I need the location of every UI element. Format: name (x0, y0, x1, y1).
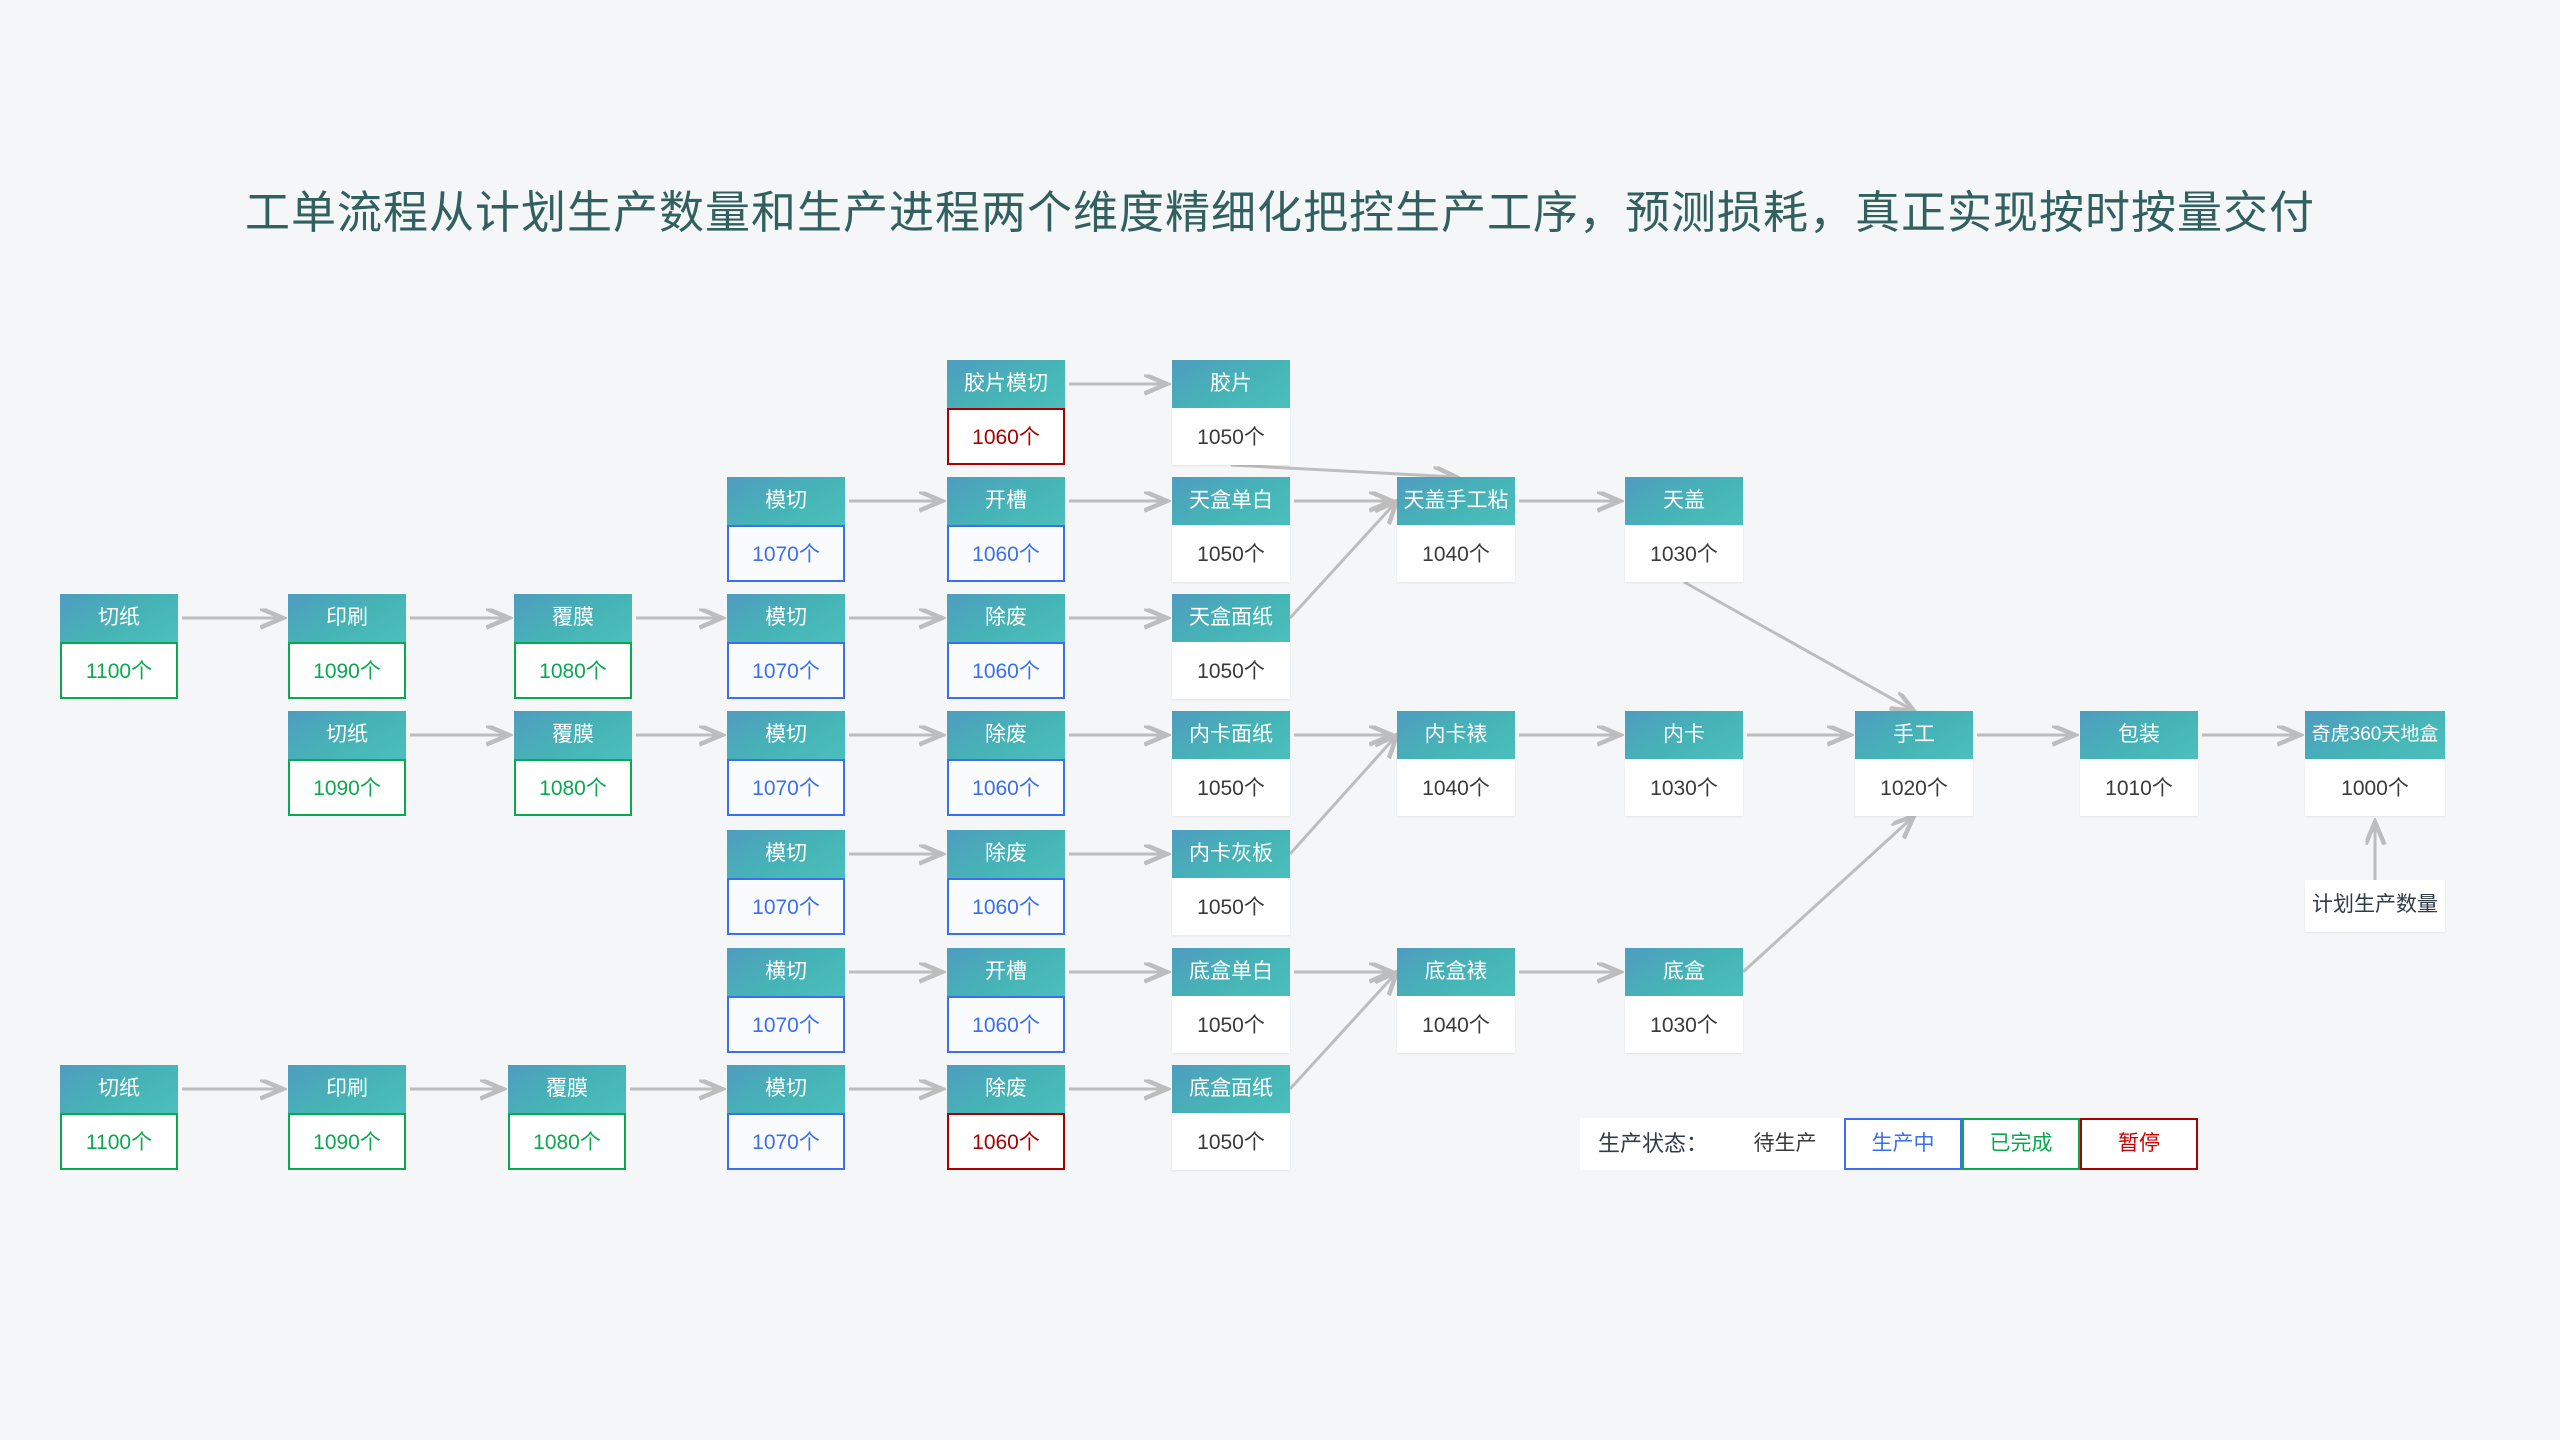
node-title: 内卡裱 (1397, 711, 1515, 759)
node-quantity: 1070个 (727, 878, 845, 935)
node-quantity: 1070个 (727, 1113, 845, 1170)
process-node-n7[interactable]: 天盖1030个 (1625, 477, 1743, 582)
process-node-n26[interactable]: 内卡灰板1050个 (1172, 830, 1290, 935)
connector (1290, 735, 1397, 854)
process-node-n28[interactable]: 开槽1060个 (947, 948, 1065, 1053)
node-title: 底盒 (1625, 948, 1743, 996)
node-quantity: 1060个 (947, 996, 1065, 1053)
legend-chip-paused[interactable]: 暂停 (2080, 1118, 2198, 1170)
node-quantity: 1070个 (727, 525, 845, 582)
node-quantity: 1060个 (947, 759, 1065, 816)
page-title: 工单流程从计划生产数量和生产进程两个维度精细化把控生产工序，预测损耗，真正实现按… (0, 176, 2560, 241)
process-node-n29[interactable]: 底盒单白1050个 (1172, 948, 1290, 1053)
process-node-n33[interactable]: 印刷1090个 (288, 1065, 406, 1170)
process-node-n13[interactable]: 天盒面纸1050个 (1172, 594, 1290, 699)
node-title: 模切 (727, 830, 845, 878)
process-node-n2[interactable]: 胶片1050个 (1172, 360, 1290, 465)
node-quantity: 1030个 (1625, 525, 1743, 582)
legend-title: 生产状态： (1580, 1118, 1726, 1170)
node-quantity: 1060个 (947, 408, 1065, 465)
process-node-n25[interactable]: 除废1060个 (947, 830, 1065, 935)
process-node-n23[interactable]: 奇虎360天地盒1000个 (2305, 711, 2445, 816)
status-legend: 生产状态： 待生产生产中已完成暂停 (1580, 1118, 2198, 1170)
node-title: 天盒单白 (1172, 477, 1290, 525)
node-title: 切纸 (60, 1065, 178, 1113)
process-node-n20[interactable]: 内卡1030个 (1625, 711, 1743, 816)
process-node-n3[interactable]: 模切1070个 (727, 477, 845, 582)
node-quantity: 1060个 (947, 642, 1065, 699)
node-quantity: 1000个 (2305, 759, 2445, 816)
node-title: 横切 (727, 948, 845, 996)
node-quantity: 1060个 (947, 1113, 1065, 1170)
process-node-n5[interactable]: 天盒单白1050个 (1172, 477, 1290, 582)
node-title: 开槽 (947, 948, 1065, 996)
node-title: 内卡灰板 (1172, 830, 1290, 878)
node-quantity: 1050个 (1172, 878, 1290, 935)
node-quantity: 1080个 (514, 759, 632, 816)
node-quantity: 1100个 (60, 642, 178, 699)
process-node-n34[interactable]: 覆膜1080个 (508, 1065, 626, 1170)
node-title: 天盖 (1625, 477, 1743, 525)
node-quantity: 1030个 (1625, 996, 1743, 1053)
node-title: 模切 (727, 594, 845, 642)
node-title: 开槽 (947, 477, 1065, 525)
process-node-n15[interactable]: 覆膜1080个 (514, 711, 632, 816)
process-node-n9[interactable]: 印刷1090个 (288, 594, 406, 699)
process-node-n30[interactable]: 底盒裱1040个 (1397, 948, 1515, 1053)
node-title: 覆膜 (514, 711, 632, 759)
node-title: 手工 (1855, 711, 1973, 759)
node-title: 底盒面纸 (1172, 1065, 1290, 1113)
node-title: 模切 (727, 1065, 845, 1113)
node-title: 切纸 (60, 594, 178, 642)
node-title: 天盒面纸 (1172, 594, 1290, 642)
legend-chip-pending[interactable]: 待生产 (1726, 1118, 1844, 1170)
process-node-n21[interactable]: 手工1020个 (1855, 711, 1973, 816)
node-quantity: 1040个 (1397, 525, 1515, 582)
node-title: 内卡面纸 (1172, 711, 1290, 759)
node-quantity: 1070个 (727, 642, 845, 699)
node-title: 底盒单白 (1172, 948, 1290, 996)
connector (1290, 501, 1397, 618)
node-title: 印刷 (288, 1065, 406, 1113)
node-title: 模切 (727, 711, 845, 759)
process-node-n24[interactable]: 模切1070个 (727, 830, 845, 935)
node-title: 除废 (947, 1065, 1065, 1113)
node-quantity: 1100个 (60, 1113, 178, 1170)
node-quantity: 1070个 (727, 996, 845, 1053)
node-title: 奇虎360天地盒 (2305, 711, 2445, 759)
legend-chip-done[interactable]: 已完成 (1962, 1118, 2080, 1170)
node-title: 除废 (947, 594, 1065, 642)
node-quantity: 1070个 (727, 759, 845, 816)
process-node-n19[interactable]: 内卡裱1040个 (1397, 711, 1515, 816)
node-title: 覆膜 (508, 1065, 626, 1113)
node-title: 模切 (727, 477, 845, 525)
process-node-n11[interactable]: 模切1070个 (727, 594, 845, 699)
node-title: 印刷 (288, 594, 406, 642)
process-node-n18[interactable]: 内卡面纸1050个 (1172, 711, 1290, 816)
node-title: 覆膜 (514, 594, 632, 642)
process-node-n37[interactable]: 底盒面纸1050个 (1172, 1065, 1290, 1170)
legend-chip-running[interactable]: 生产中 (1844, 1118, 1962, 1170)
node-quantity: 1080个 (508, 1113, 626, 1170)
process-node-n31[interactable]: 底盒1030个 (1625, 948, 1743, 1053)
process-node-n22[interactable]: 包装1010个 (2080, 711, 2198, 816)
node-quantity: 1040个 (1397, 996, 1515, 1053)
node-quantity: 1060个 (947, 525, 1065, 582)
node-title: 胶片模切 (947, 360, 1065, 408)
connector (1231, 465, 1456, 477)
node-title: 底盒裱 (1397, 948, 1515, 996)
process-node-n32[interactable]: 切纸1100个 (60, 1065, 178, 1170)
node-quantity: 1090个 (288, 642, 406, 699)
process-node-n17[interactable]: 除废1060个 (947, 711, 1065, 816)
node-quantity: 1060个 (947, 878, 1065, 935)
process-node-n35[interactable]: 模切1070个 (727, 1065, 845, 1170)
node-title: 内卡 (1625, 711, 1743, 759)
node-quantity: 1080个 (514, 642, 632, 699)
node-quantity: 1050个 (1172, 996, 1290, 1053)
node-quantity: 1020个 (1855, 759, 1973, 816)
connector (1743, 816, 1914, 972)
node-title: 除废 (947, 830, 1065, 878)
process-node-n6[interactable]: 天盖手工粘1040个 (1397, 477, 1515, 582)
process-node-n10[interactable]: 覆膜1080个 (514, 594, 632, 699)
process-node-n16[interactable]: 模切1070个 (727, 711, 845, 816)
node-quantity: 1090个 (288, 759, 406, 816)
node-title: 切纸 (288, 711, 406, 759)
node-quantity: 1050个 (1172, 408, 1290, 465)
node-title: 天盖手工粘 (1397, 477, 1515, 525)
process-node-n27[interactable]: 横切1070个 (727, 948, 845, 1053)
node-quantity: 1040个 (1397, 759, 1515, 816)
diagram-canvas: 工单流程从计划生产数量和生产进程两个维度精细化把控生产工序，预测损耗，真正实现按… (0, 0, 2560, 1440)
node-title: 胶片 (1172, 360, 1290, 408)
node-title: 除废 (947, 711, 1065, 759)
connector (1684, 582, 1914, 711)
node-quantity: 1050个 (1172, 642, 1290, 699)
plan-quantity-note: 计划生产数量 (2305, 880, 2445, 932)
node-quantity: 1050个 (1172, 525, 1290, 582)
process-node-n1[interactable]: 胶片模切1060个 (947, 360, 1065, 465)
node-title: 包装 (2080, 711, 2198, 759)
node-quantity: 1010个 (2080, 759, 2198, 816)
connector (1290, 972, 1397, 1089)
node-quantity: 1090个 (288, 1113, 406, 1170)
process-node-n8[interactable]: 切纸1100个 (60, 594, 178, 699)
node-quantity: 1050个 (1172, 759, 1290, 816)
process-node-n36[interactable]: 除废1060个 (947, 1065, 1065, 1170)
node-quantity: 1030个 (1625, 759, 1743, 816)
process-node-n12[interactable]: 除废1060个 (947, 594, 1065, 699)
process-node-n4[interactable]: 开槽1060个 (947, 477, 1065, 582)
node-quantity: 1050个 (1172, 1113, 1290, 1170)
process-node-n14[interactable]: 切纸1090个 (288, 711, 406, 816)
